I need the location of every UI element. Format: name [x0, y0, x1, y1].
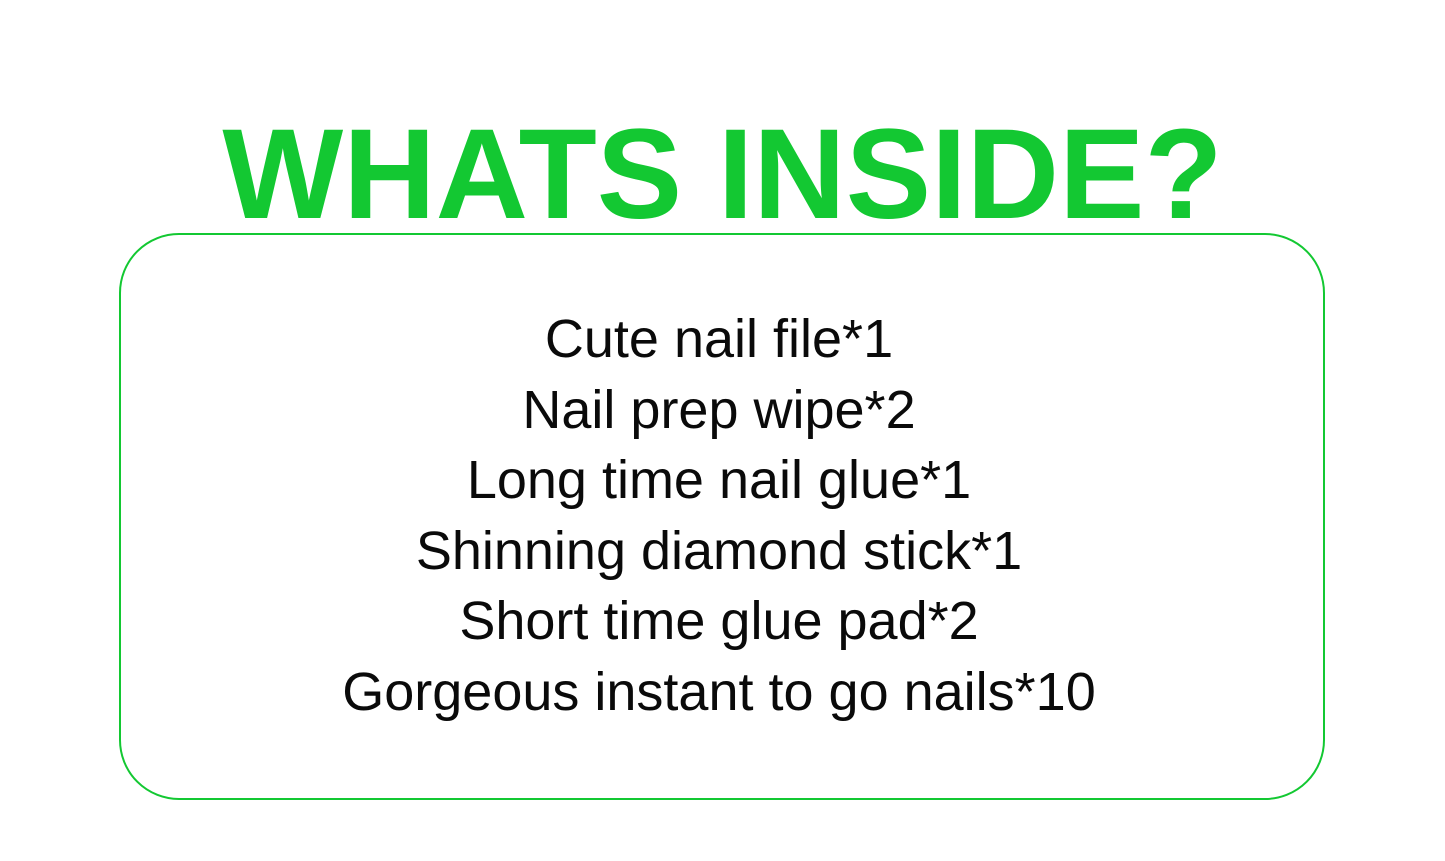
contents-card: Cute nail file*1 Nail prep wipe*2 Long t…	[119, 233, 1325, 800]
page-title: WHATS INSIDE?	[0, 100, 1445, 250]
list-item: Short time glue pad*2	[121, 586, 1317, 657]
list-item: Cute nail file*1	[121, 304, 1317, 375]
contents-list: Cute nail file*1 Nail prep wipe*2 Long t…	[121, 304, 1323, 727]
slide-root: WHATS INSIDE? Cute nail file*1 Nail prep…	[0, 0, 1445, 861]
list-item: Shinning diamond stick*1	[121, 516, 1317, 587]
list-item: Nail prep wipe*2	[121, 375, 1317, 446]
list-item: Gorgeous instant to go nails*10	[121, 657, 1317, 728]
list-item: Long time nail glue*1	[121, 445, 1317, 516]
